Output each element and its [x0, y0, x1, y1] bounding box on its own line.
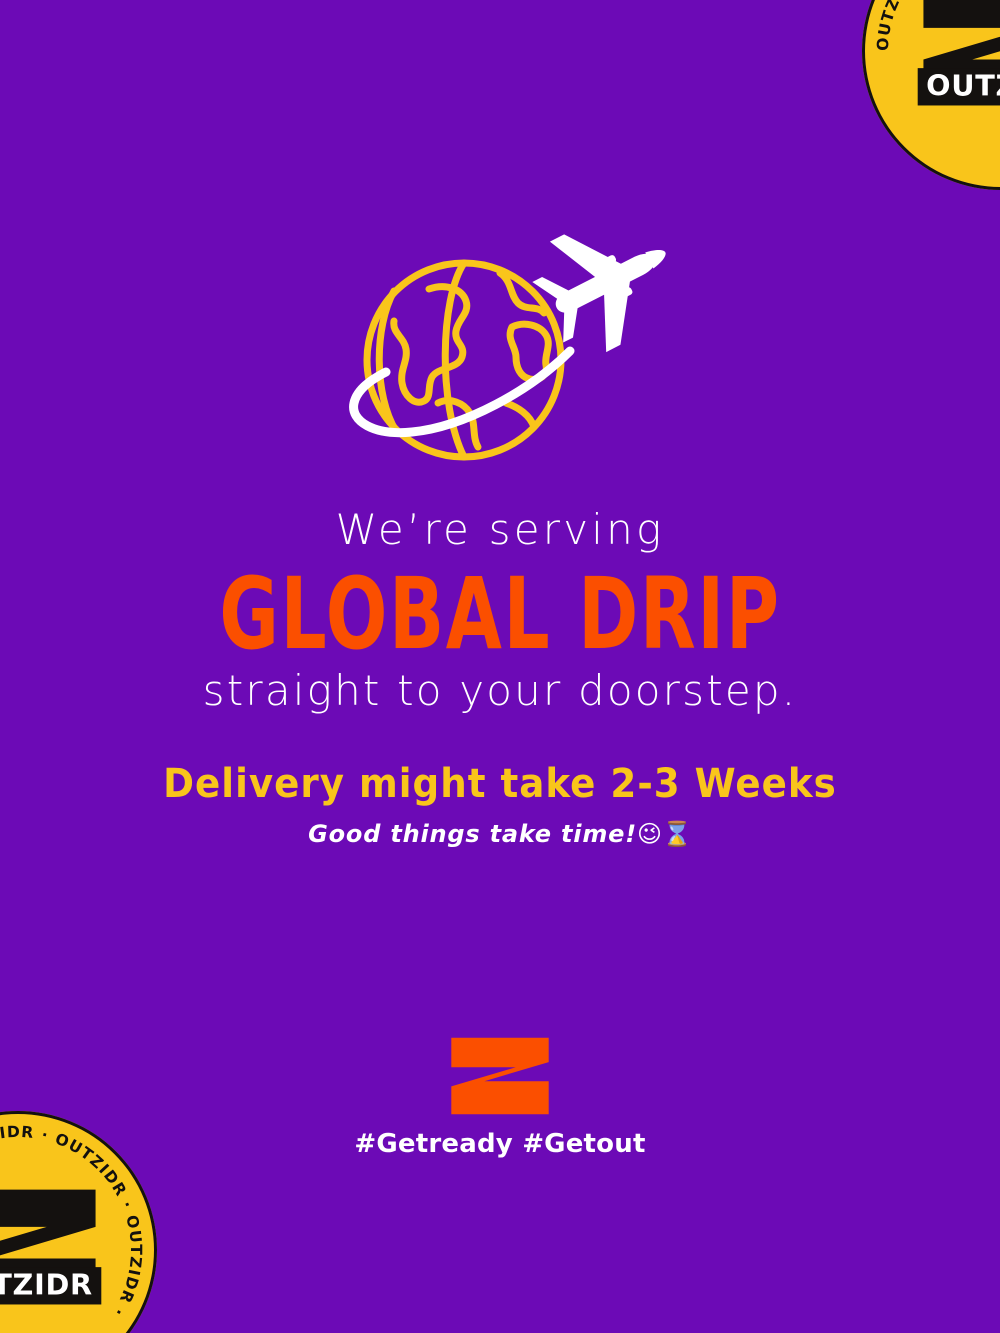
headline-main: GLOBAL DRIP: [110, 566, 890, 665]
brand-badge-top-right: OUTZIDR · OUTZIDR · OUTZIDR · OUTZIDR · …: [862, 0, 1000, 190]
footer-hashtags: #Getready #Getout: [354, 1129, 645, 1159]
delivery-note-block: Delivery might take 2-3 Weeks Good thing…: [0, 761, 1000, 848]
z-monogram-icon: [451, 1038, 548, 1115]
badge-wordmark-top-right: OUTZIDR: [926, 69, 1000, 103]
delivery-caption-text: Good things take time!: [308, 820, 637, 848]
brand-z-logo: [446, 1036, 554, 1116]
promo-poster: OUTZIDR · OUTZIDR · OUTZIDR · OUTZIDR · …: [0, 0, 1000, 1333]
delivery-caption: Good things take time!😉⌛: [0, 820, 1000, 848]
headline-block: We’re serving GLOBAL DRIP straight to yo…: [0, 506, 1000, 716]
badge-core-top-right: OUTZIDR: [915, 0, 1000, 137]
badge-wordmark-bar-top-right: OUTZIDR: [918, 68, 1000, 105]
globe-airplane-illustration: [334, 255, 672, 475]
globe-icon: [367, 263, 561, 457]
badge-wordmark-bar-bottom-left: OUTZIDR: [0, 1267, 101, 1304]
brand-badge-bottom-left: OUTZIDR · OUTZIDR · OUTZIDR · OUTZIDR · …: [0, 1111, 157, 1333]
headline-eyebrow: We’re serving: [0, 506, 1000, 554]
badge-wordmark-bottom-left: OUTZIDR: [0, 1268, 93, 1302]
delivery-headline: Delivery might take 2-3 Weeks: [35, 761, 965, 807]
badge-core-bottom-left: OUTZIDR: [0, 1164, 104, 1333]
headline-sub: straight to your doorstep.: [0, 667, 1000, 715]
delivery-caption-emoji: 😉⌛: [637, 820, 692, 848]
